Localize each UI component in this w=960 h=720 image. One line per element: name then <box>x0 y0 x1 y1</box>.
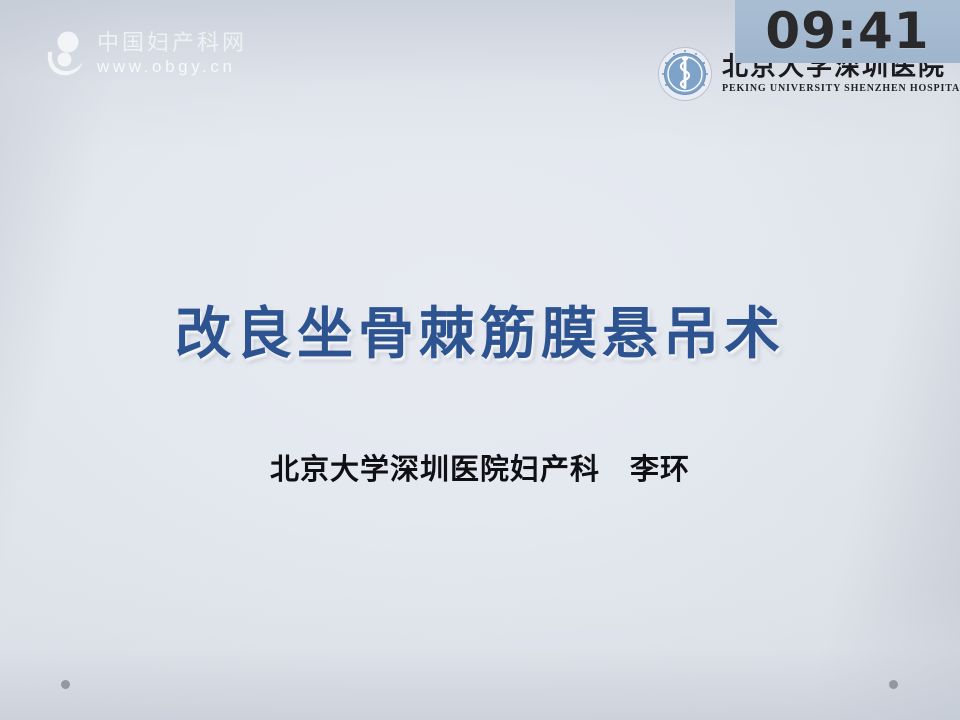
slide-subtitle: 北京大学深圳医院妇产科 李环 <box>0 452 960 487</box>
slide-background-bottom-shade <box>0 590 960 720</box>
clock-overlay: 09:41 <box>735 0 960 63</box>
video-lecture-slide: 中国妇产科网 www.obgy.cn <box>0 0 960 720</box>
clock-time: 09:41 <box>765 6 929 56</box>
slide-marker-dot-left <box>61 680 70 689</box>
slide-title: 改良坐骨棘筋膜悬吊术 <box>0 303 960 367</box>
slide-marker-dot-right <box>889 680 898 689</box>
